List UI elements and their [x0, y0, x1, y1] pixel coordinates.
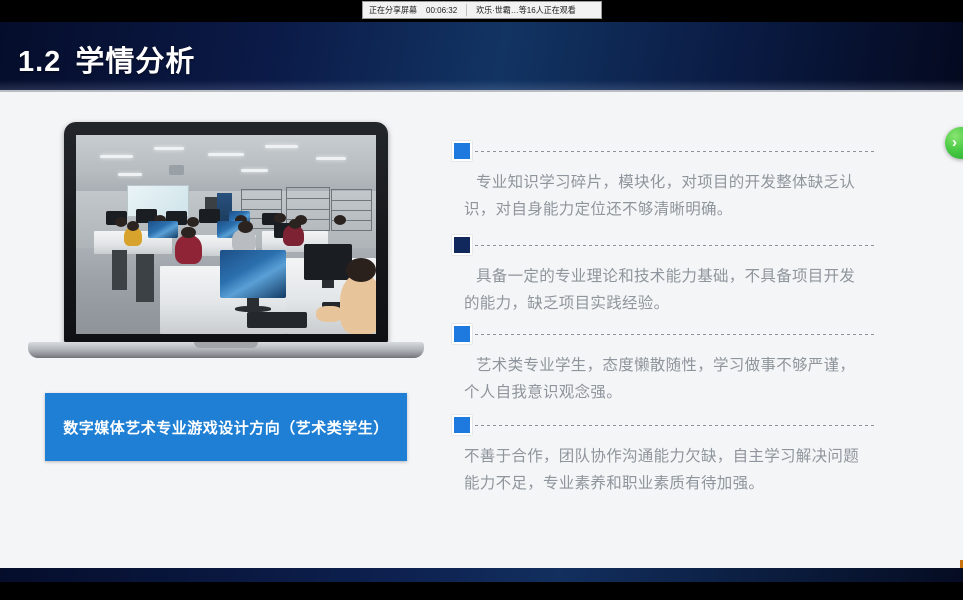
dotted-divider [475, 151, 876, 152]
dotted-divider [475, 425, 876, 426]
laptop-notch [194, 342, 258, 348]
point-text: 专业知识学习碎片，模块化，对项目的开发整体缺乏认识，对自身能力定位还不够清晰明确… [464, 169, 864, 223]
slide-title-text: 学情分析 [75, 46, 195, 78]
slide-bottom-band [0, 568, 963, 582]
laptop-base [28, 342, 424, 358]
point-rule-2 [452, 234, 876, 256]
list-item: 具备一定的专业理论和技术能力基础，不具备项目开发的能力，缺乏项目实践经验。 [452, 234, 876, 317]
slide-canvas: 1.2学情分析 [0, 22, 963, 568]
bottom-letterbox [0, 582, 963, 600]
point-text: 艺术类专业学生，态度懒散随性，学习做事不够严谨，个人自我意识观念强。 [464, 352, 864, 406]
screen-share-bar: 正在分享屏幕 00:06:32 欢乐·世霸…等16人正在观看 [0, 0, 963, 22]
screen-root: 正在分享屏幕 00:06:32 欢乐·世霸…等16人正在观看 1.2学情分析 [0, 0, 963, 600]
classroom-photo [76, 135, 376, 334]
analysis-points-list: 专业知识学习碎片，模块化，对项目的开发整体缺乏认识，对自身能力定位还不够清晰明确… [452, 140, 876, 497]
green-button-glyph: › [952, 135, 957, 151]
square-bullet-icon [452, 415, 472, 435]
share-timer: 00:06:32 [426, 5, 457, 14]
point-text: 具备一定的专业理论和技术能力基础，不具备项目开发的能力，缺乏项目实践经验。 [464, 263, 864, 317]
list-item: 艺术类专业学生，态度懒散随性，学习做事不够严谨，个人自我意识观念强。 [452, 323, 876, 406]
image-caption-box: 数字媒体艺术专业游戏设计方向（艺术类学生） [45, 393, 407, 461]
image-caption-label: 数字媒体艺术专业游戏设计方向（艺术类学生） [63, 417, 389, 438]
dotted-divider [475, 334, 876, 335]
square-bullet-icon [452, 324, 472, 344]
point-rule-3 [452, 323, 876, 345]
slide-header: 1.2学情分析 [0, 22, 963, 92]
page-title: 1.2学情分析 [18, 38, 195, 80]
point-rule-4 [452, 414, 876, 436]
list-item: 不善于合作，团队协作沟通能力欠缺，自主学习解决问题能力不足，专业素养和职业素质有… [452, 414, 876, 497]
square-bullet-icon [452, 235, 472, 255]
share-divider [466, 4, 467, 17]
list-item: 专业知识学习碎片，模块化，对项目的开发整体缺乏认识，对自身能力定位还不够清晰明确… [452, 140, 876, 223]
dotted-divider [475, 245, 876, 246]
laptop-mockup [28, 122, 424, 372]
share-status-pill[interactable]: 正在分享屏幕 00:06:32 欢乐·世霸…等16人正在观看 [362, 1, 602, 19]
laptop-lid [64, 122, 388, 344]
share-status-label: 正在分享屏幕 [369, 4, 417, 16]
slide-title-number: 1.2 [18, 46, 61, 78]
share-viewers-label: 欢乐·世霸…等16人正在观看 [476, 4, 576, 16]
point-text: 不善于合作，团队协作沟通能力欠缺，自主学习解决问题能力不足，专业素养和职业素质有… [464, 443, 864, 497]
point-rule-1 [452, 140, 876, 162]
square-bullet-icon [452, 141, 472, 161]
